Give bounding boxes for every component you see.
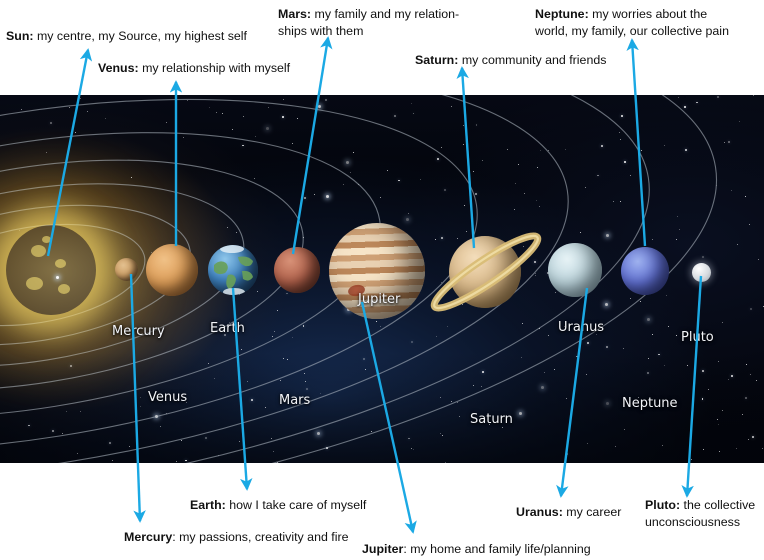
callout-mars-term: Mars: <box>278 7 311 21</box>
saturn-rings <box>418 207 554 337</box>
callout-neptune-line2: world, my family, our collective pain <box>535 23 729 40</box>
callout-earth-line1: Earth: how I take care of myself <box>190 497 366 514</box>
planet-venus <box>146 244 198 296</box>
planet-label-mars: Mars <box>279 393 310 408</box>
callout-mercury-line1: Mercury: my passions, creativity and fir… <box>124 529 349 546</box>
earth-continents <box>208 245 258 295</box>
callout-saturn-line1: Saturn: my community and friends <box>415 52 606 69</box>
callout-venus-desc: my relationship with myself <box>139 61 291 75</box>
callout-venus-term: Venus: <box>98 61 139 75</box>
planet-mars <box>274 247 320 293</box>
planet-label-pluto: Pluto <box>681 330 714 345</box>
planet-label-mercury: Mercury <box>112 324 165 339</box>
callout-pluto-line2: unconsciousness <box>645 514 755 531</box>
planet-pluto <box>692 263 711 282</box>
callout-saturn: Saturn: my community and friends <box>415 52 606 69</box>
callout-earth-desc: how I take care of myself <box>226 498 366 512</box>
callout-sun-desc: my centre, my Source, my highest self <box>34 29 247 43</box>
callout-mercury-desc: : my passions, creativity and fire <box>172 530 348 544</box>
callout-sun: Sun: my centre, my Source, my highest se… <box>6 28 247 45</box>
planet-label-earth: Earth <box>210 321 245 336</box>
callout-saturn-term: Saturn: <box>415 53 458 67</box>
callout-mercury: Mercury: my passions, creativity and fir… <box>124 529 349 546</box>
callout-jupiter: Jupiter: my home and family life/plannin… <box>362 541 591 558</box>
callout-uranus-line1: Uranus: my career <box>516 504 621 521</box>
planet-label-saturn: Saturn <box>470 412 513 427</box>
callout-neptune: Neptune: my worries about theworld, my f… <box>535 6 729 40</box>
callout-mars-desc: my family and my relation- <box>311 7 459 21</box>
callout-jupiter-desc: : my home and family life/planning <box>403 542 590 556</box>
callout-uranus: Uranus: my career <box>516 504 621 521</box>
callout-sun-term: Sun: <box>6 29 34 43</box>
planet-mercury <box>115 258 138 281</box>
callout-neptune-desc: my worries about the <box>589 7 707 21</box>
planet-label-uranus: Uranus <box>558 320 604 335</box>
callout-jupiter-term: Jupiter <box>362 542 403 556</box>
callout-mars-line1: Mars: my family and my relation- <box>278 6 459 23</box>
planet-label-jupiter: Jupiter <box>358 292 400 307</box>
callout-saturn-desc: my community and friends <box>458 53 606 67</box>
callout-venus-line1: Venus: my relationship with myself <box>98 60 290 77</box>
callout-venus: Venus: my relationship with myself <box>98 60 290 77</box>
callout-uranus-desc: my career <box>563 505 622 519</box>
callout-sun-line1: Sun: my centre, my Source, my highest se… <box>6 28 247 45</box>
planet-uranus <box>548 243 602 297</box>
callout-mars-line2: ships with them <box>278 23 459 40</box>
callout-pluto: Pluto: the collectiveunconsciousness <box>645 497 755 531</box>
planet-label-neptune: Neptune <box>622 396 678 411</box>
callout-jupiter-line1: Jupiter: my home and family life/plannin… <box>362 541 591 558</box>
solar-system-image: MercuryVenusEarthMarsJupiterSaturnUranus… <box>0 95 764 463</box>
callout-earth: Earth: how I take care of myself <box>190 497 366 514</box>
callout-mercury-term: Mercury <box>124 530 172 544</box>
callout-earth-term: Earth: <box>190 498 226 512</box>
callout-pluto-desc: the collective <box>680 498 755 512</box>
callout-neptune-term: Neptune: <box>535 7 589 21</box>
callout-pluto-line1: Pluto: the collective <box>645 497 755 514</box>
sun <box>6 225 96 315</box>
callout-uranus-term: Uranus: <box>516 505 563 519</box>
planet-neptune <box>621 247 669 295</box>
callout-pluto-term: Pluto: <box>645 498 680 512</box>
planet-label-venus: Venus <box>148 390 187 405</box>
callout-mars: Mars: my family and my relation-ships wi… <box>278 6 459 40</box>
callout-neptune-line1: Neptune: my worries about the <box>535 6 729 23</box>
